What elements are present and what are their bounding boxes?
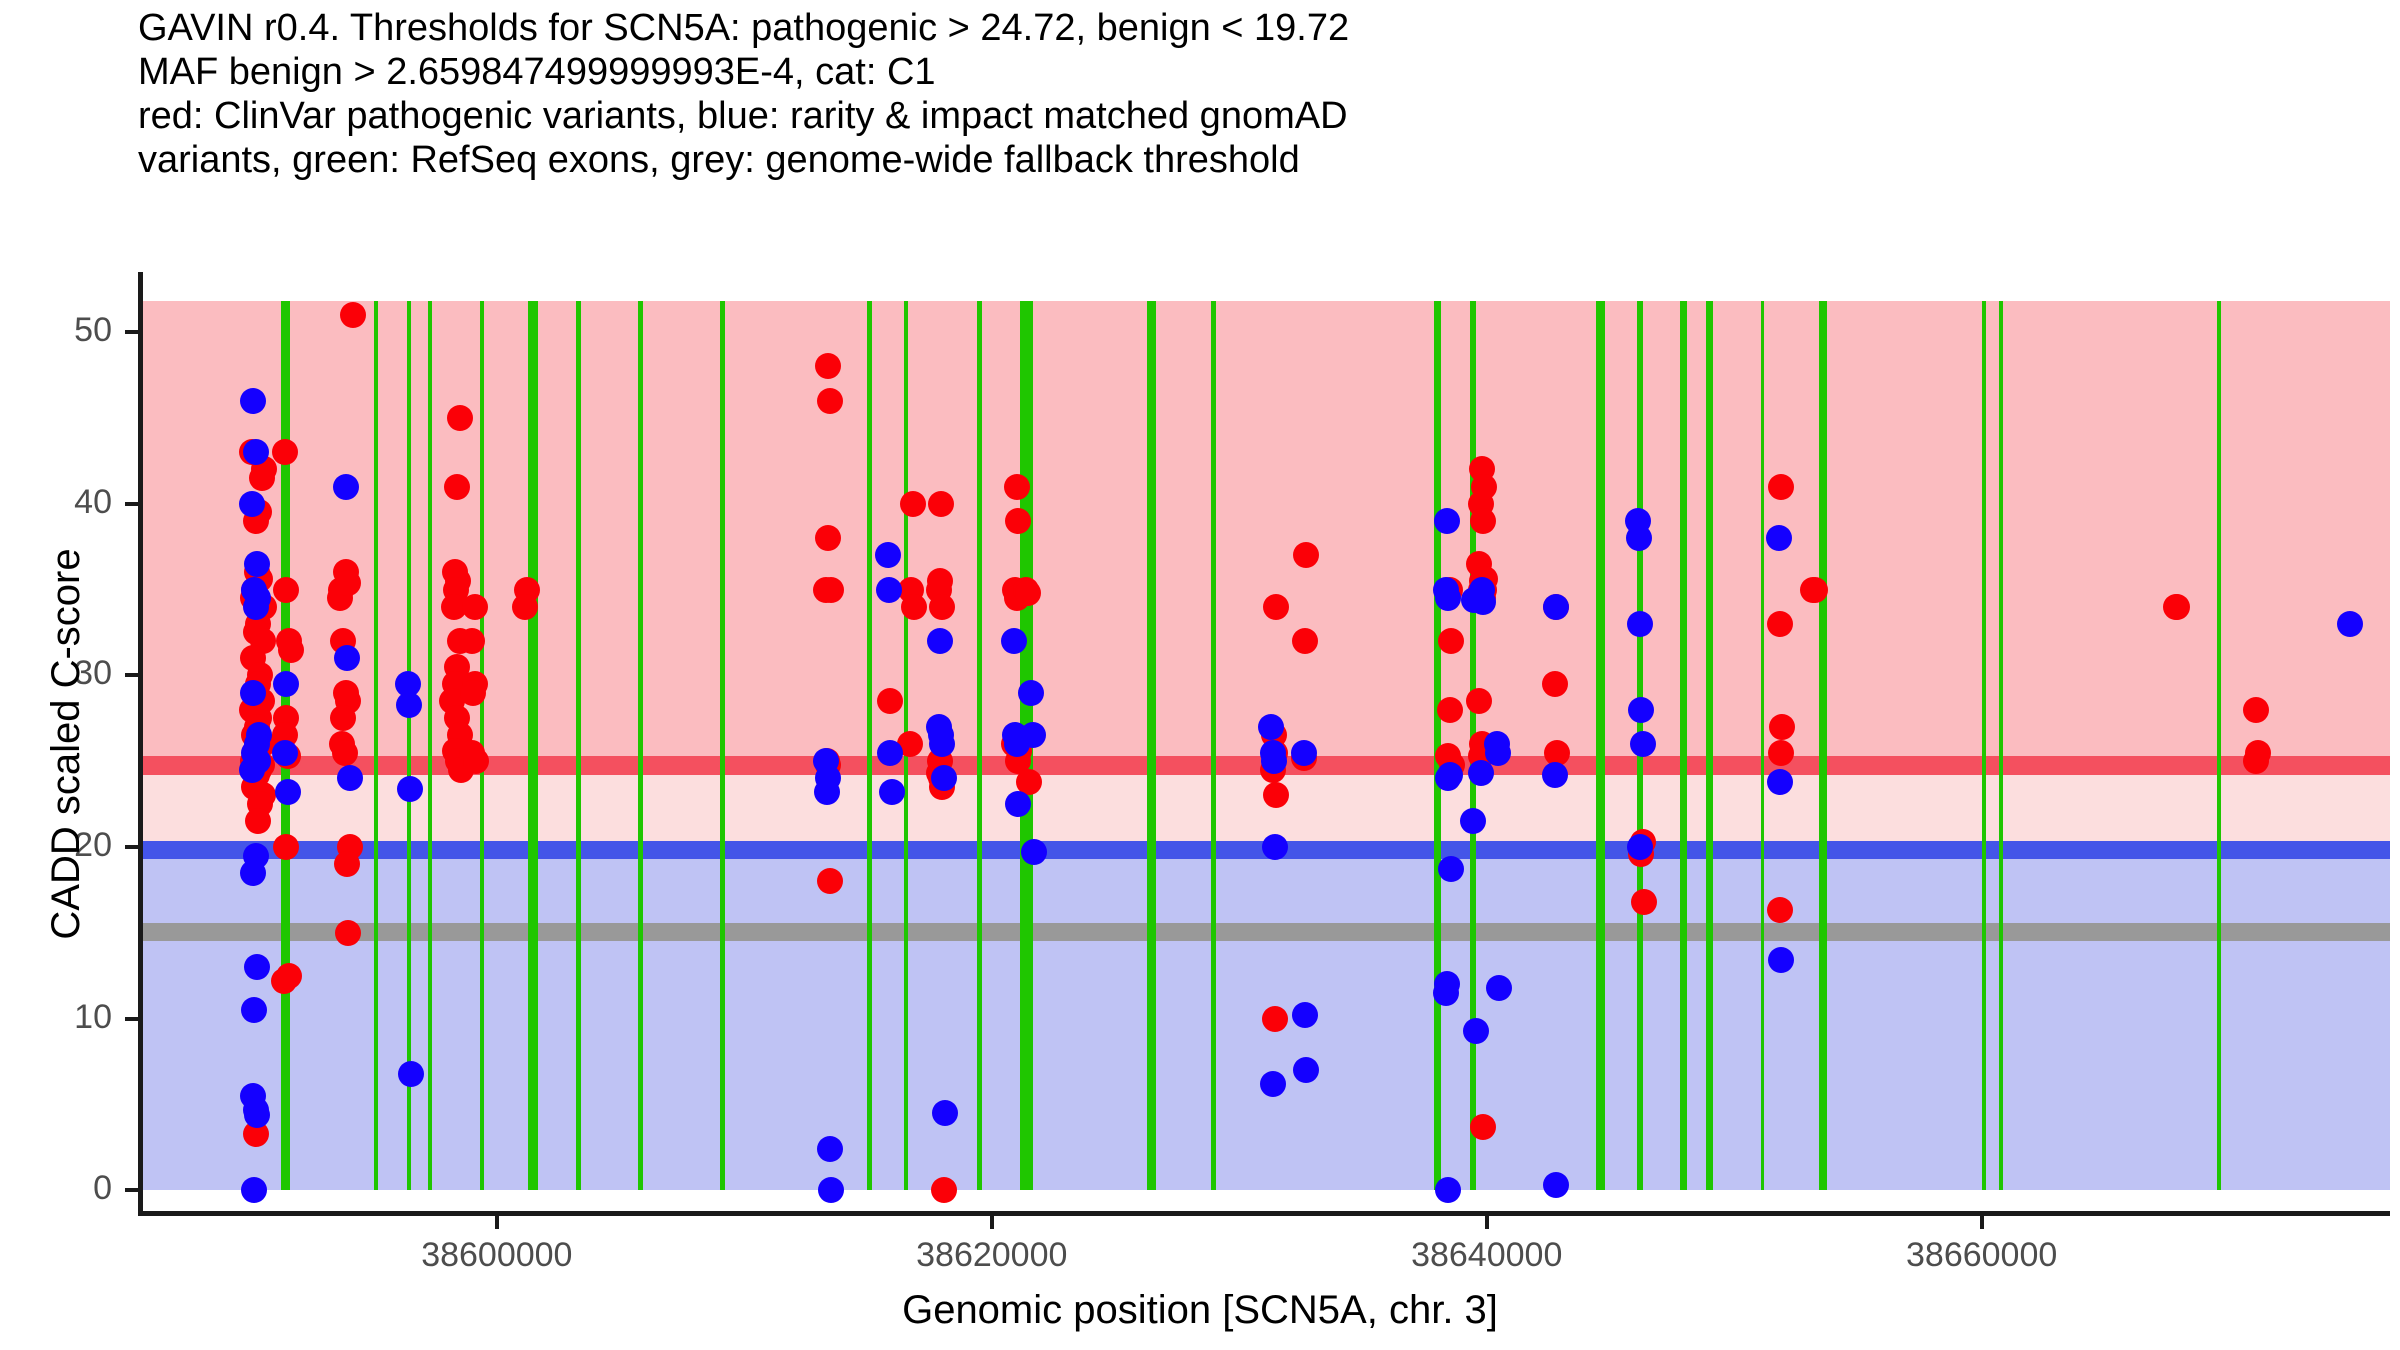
pathogenic-variant-point (1542, 671, 1568, 697)
pathogenic-variant-point (2243, 697, 2269, 723)
gnomad-variant-point (1543, 594, 1569, 620)
y-tick-mark (125, 1017, 138, 1021)
exon-marker (407, 301, 411, 1190)
y-axis-label: CADD scaled C-score (44, 464, 89, 1024)
gnomad-variant-point (1292, 1002, 1318, 1028)
gnomad-variant-point (1627, 834, 1653, 860)
gnomad-variant-point (1291, 740, 1317, 766)
pathogenic-variant-point (459, 628, 485, 654)
gnomad-variant-point (396, 692, 422, 718)
gnomad-variant-point (398, 1061, 424, 1087)
chart-title-block: GAVIN r0.4. Thresholds for SCN5A: pathog… (138, 6, 2338, 182)
gnomad-variant-point (397, 776, 423, 802)
exon-marker (1982, 301, 1986, 1190)
pathogenic-variant-point (332, 740, 358, 766)
pathogenic-variant-point (335, 570, 361, 596)
exon-marker (867, 301, 872, 1190)
pathogenic-variant-point (1470, 508, 1496, 534)
gnomad-variant-point (879, 779, 905, 805)
x-tick-label: 38620000 (916, 1236, 1067, 1275)
gnomad-variant-point (1005, 791, 1031, 817)
gnomad-variant-point (1543, 1172, 1569, 1198)
pathogenic-variant-point (1768, 740, 1794, 766)
gnomad-variant-point (244, 551, 270, 577)
exon-marker (977, 301, 982, 1190)
y-tick-label: 50 (0, 311, 112, 350)
gnomad-variant-point (1001, 628, 1027, 654)
gnomad-variant-point (1433, 980, 1459, 1006)
exon-marker (2217, 301, 2221, 1190)
gnomad-variant-point (1468, 760, 1494, 786)
exon-marker (576, 301, 581, 1190)
pathogenic-variant-point (817, 388, 843, 414)
pathogenic-variant-point (447, 405, 473, 431)
exon-marker (1819, 301, 1827, 1190)
pathogenic-variant-point (1767, 611, 1793, 637)
pathogenic-variant-point (928, 491, 954, 517)
gnomad-variant-point (1293, 1057, 1319, 1083)
gnomad-variant-point (1767, 769, 1793, 795)
pathogenic-variant-point (1631, 889, 1657, 915)
title-line-2: MAF benign > 2.659847499999993E-4, cat: … (138, 50, 2338, 94)
title-line-1: GAVIN r0.4. Thresholds for SCN5A: pathog… (138, 6, 2338, 50)
pathogenic-variant-point (1263, 594, 1289, 620)
chart-root: GAVIN r0.4. Thresholds for SCN5A: pathog… (0, 0, 2400, 1350)
gnomad-variant-point (1542, 762, 1568, 788)
pathogenic-variant-point (1470, 1114, 1496, 1140)
y-tick-mark (125, 1188, 138, 1192)
exon-marker (1761, 301, 1764, 1190)
pathogenic-variant-point (1471, 474, 1497, 500)
pathogenic-variant-point (273, 577, 299, 603)
gnomad-variant-point (1627, 611, 1653, 637)
y-tick-mark (125, 330, 138, 334)
exon-marker (1596, 301, 1605, 1190)
gnomad-variant-point (243, 439, 269, 465)
gnomad-variant-point (244, 1102, 270, 1128)
gnomad-variant-point (1628, 697, 1654, 723)
x-tick-mark (990, 1216, 994, 1229)
gnomad-variant-point (1434, 508, 1460, 534)
gnomad-variant-point (1766, 525, 1792, 551)
pathogenic-variant-point (1768, 474, 1794, 500)
gnomad-variant-point (1626, 525, 1652, 551)
pathogenic-variant-point (463, 748, 489, 774)
exon-marker (374, 301, 378, 1190)
pathogenic-variant-point (817, 868, 843, 894)
gnomad-variant-point (1438, 856, 1464, 882)
title-line-3: red: ClinVar pathogenic variants, blue: … (138, 94, 2338, 138)
gnomad-variant-point (932, 1100, 958, 1126)
gnomad-variant-point (1470, 589, 1496, 615)
pathogenic-variant-point (462, 594, 488, 620)
gnomad-variant-point (244, 954, 270, 980)
pathogenic-variant-point (278, 637, 304, 663)
pathogenic-variant-point (460, 680, 486, 706)
pathogenic-variant-point (931, 1177, 957, 1203)
pathogenic-variant-point (1438, 628, 1464, 654)
x-axis-label: Genomic position [SCN5A, chr. 3] (0, 1288, 2400, 1333)
gnomad-variant-point (1261, 748, 1287, 774)
y-tick-label: 0 (0, 1169, 112, 1208)
pathogenic-variant-point (1005, 508, 1031, 534)
band-fallback-threshold-line (138, 923, 2390, 942)
gnomad-variant-point (1260, 1071, 1286, 1097)
gnomad-variant-point (927, 628, 953, 654)
gnomad-variant-point (333, 474, 359, 500)
gnomad-variant-point (240, 680, 266, 706)
gnomad-variant-point (337, 765, 363, 791)
plot-panel (138, 272, 2390, 1216)
y-tick-mark (125, 502, 138, 506)
pathogenic-variant-point (1802, 577, 1828, 603)
gnomad-variant-point (1630, 731, 1656, 757)
exon-marker (428, 301, 432, 1190)
gnomad-variant-point (1018, 680, 1044, 706)
gnomad-variant-point (272, 740, 298, 766)
pathogenic-variant-point (512, 594, 538, 620)
gnomad-variant-point (241, 1177, 267, 1203)
gnomad-variant-point (817, 1136, 843, 1162)
y-tick-mark (125, 845, 138, 849)
x-tick-mark (1980, 1216, 1984, 1229)
gnomad-variant-point (239, 491, 265, 517)
gnomad-variant-point (1463, 1018, 1489, 1044)
gnomad-variant-point (1020, 722, 1046, 748)
exon-marker (1211, 301, 1216, 1190)
x-tick-label: 38640000 (1411, 1236, 1562, 1275)
pathogenic-variant-point (1437, 697, 1463, 723)
gnomad-variant-point (275, 779, 301, 805)
exon-marker (1147, 301, 1156, 1190)
gnomad-variant-point (1486, 975, 1512, 1001)
gnomad-variant-point (875, 542, 901, 568)
exon-marker (1680, 301, 1687, 1190)
pathogenic-variant-point (1262, 1006, 1288, 1032)
x-tick-mark (495, 1216, 499, 1229)
gnomad-variant-point (876, 577, 902, 603)
pathogenic-variant-point (249, 465, 275, 491)
gnomad-variant-point (1262, 834, 1288, 860)
pathogenic-variant-point (900, 491, 926, 517)
exon-marker (638, 301, 643, 1190)
gnomad-variant-point (1021, 839, 1047, 865)
gnomad-variant-point (931, 765, 957, 791)
exon-marker (1999, 301, 2003, 1190)
gnomad-variant-point (240, 388, 266, 414)
pathogenic-variant-point (335, 920, 361, 946)
gnomad-variant-point (243, 594, 269, 620)
x-tick-label: 38660000 (1906, 1236, 2057, 1275)
pathogenic-variant-point (1004, 474, 1030, 500)
pathogenic-variant-point (2163, 594, 2189, 620)
exon-marker (720, 301, 725, 1190)
title-line-4: variants, green: RefSeq exons, grey: gen… (138, 138, 2338, 182)
x-tick-label: 38600000 (421, 1236, 572, 1275)
y-tick-mark (125, 673, 138, 677)
x-tick-mark (1485, 1216, 1489, 1229)
pathogenic-variant-point (901, 594, 927, 620)
gnomad-variant-point (239, 757, 265, 783)
plot-clip-area (138, 272, 2390, 1216)
pathogenic-variant-point (1015, 580, 1041, 606)
gnomad-variant-point (877, 740, 903, 766)
pathogenic-variant-point (276, 963, 302, 989)
exon-marker (528, 301, 538, 1190)
gnomad-variant-point (1435, 1177, 1461, 1203)
pathogenic-variant-point (1292, 628, 1318, 654)
pathogenic-variant-point (813, 577, 839, 603)
gnomad-variant-point (818, 1177, 844, 1203)
gnomad-variant-point (240, 860, 266, 886)
exon-marker (1706, 301, 1713, 1190)
pathogenic-variant-point (444, 474, 470, 500)
pathogenic-variant-point (929, 594, 955, 620)
gnomad-variant-point (1485, 740, 1511, 766)
